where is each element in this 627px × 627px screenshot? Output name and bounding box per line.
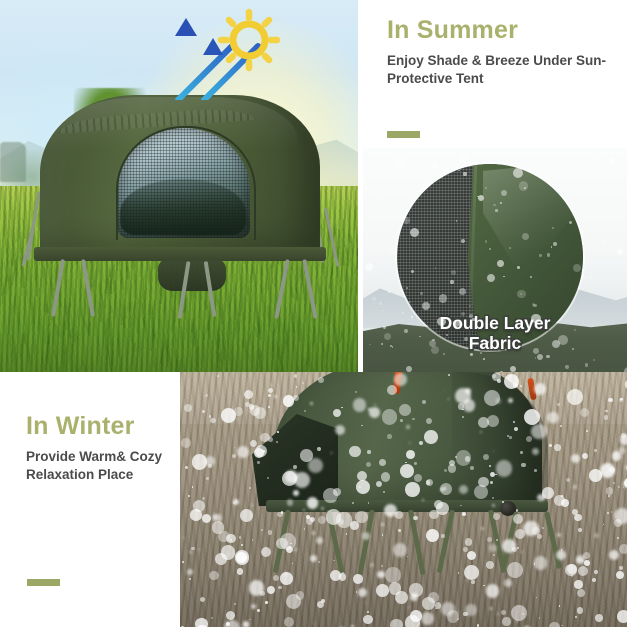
winter-text-panel: In Winter Provide Warm& Cozy Relaxation … <box>0 372 180 627</box>
winter-tent-left-flap <box>252 414 338 506</box>
infographic-canvas: In Summer Enjoy Shade & Breeze Under Sun… <box>0 0 627 627</box>
summer-icon-overlay <box>160 4 280 100</box>
summer-body-text: Enjoy Shade & Breeze Under Sun-Protectiv… <box>387 52 623 88</box>
summer-tent-cot <box>40 95 320 310</box>
fabric-detail-panel: Double LayerFabric <box>363 148 627 372</box>
winter-heading: In Winter <box>26 412 135 441</box>
zipper-pull-icon <box>527 378 537 401</box>
cot-leg <box>302 259 317 319</box>
winter-accent-bar <box>27 579 60 586</box>
summer-heading: In Summer <box>387 16 518 45</box>
cot-leg <box>81 259 95 317</box>
winter-body-text: Provide Warm& Cozy Relaxation Place <box>26 448 174 484</box>
sun-and-arrows-svg <box>160 4 280 100</box>
tent-window-rim <box>116 126 256 240</box>
double-layer-fabric-label: Double LayerFabric <box>363 314 627 354</box>
winter-tent-cot <box>252 372 548 522</box>
under-cot-storage <box>158 259 226 291</box>
cot-leg <box>274 259 289 319</box>
fabric-label-line-1: Double Layer <box>440 313 551 333</box>
sun-icon <box>221 12 277 68</box>
winter-photo <box>180 372 627 627</box>
summer-photo <box>0 0 358 372</box>
summer-accent-bar <box>387 131 420 138</box>
fabric-label-line-2: Fabric <box>469 333 522 353</box>
cot-leg <box>51 259 65 317</box>
summer-text-panel: In Summer Enjoy Shade & Breeze Under Sun… <box>363 0 627 148</box>
